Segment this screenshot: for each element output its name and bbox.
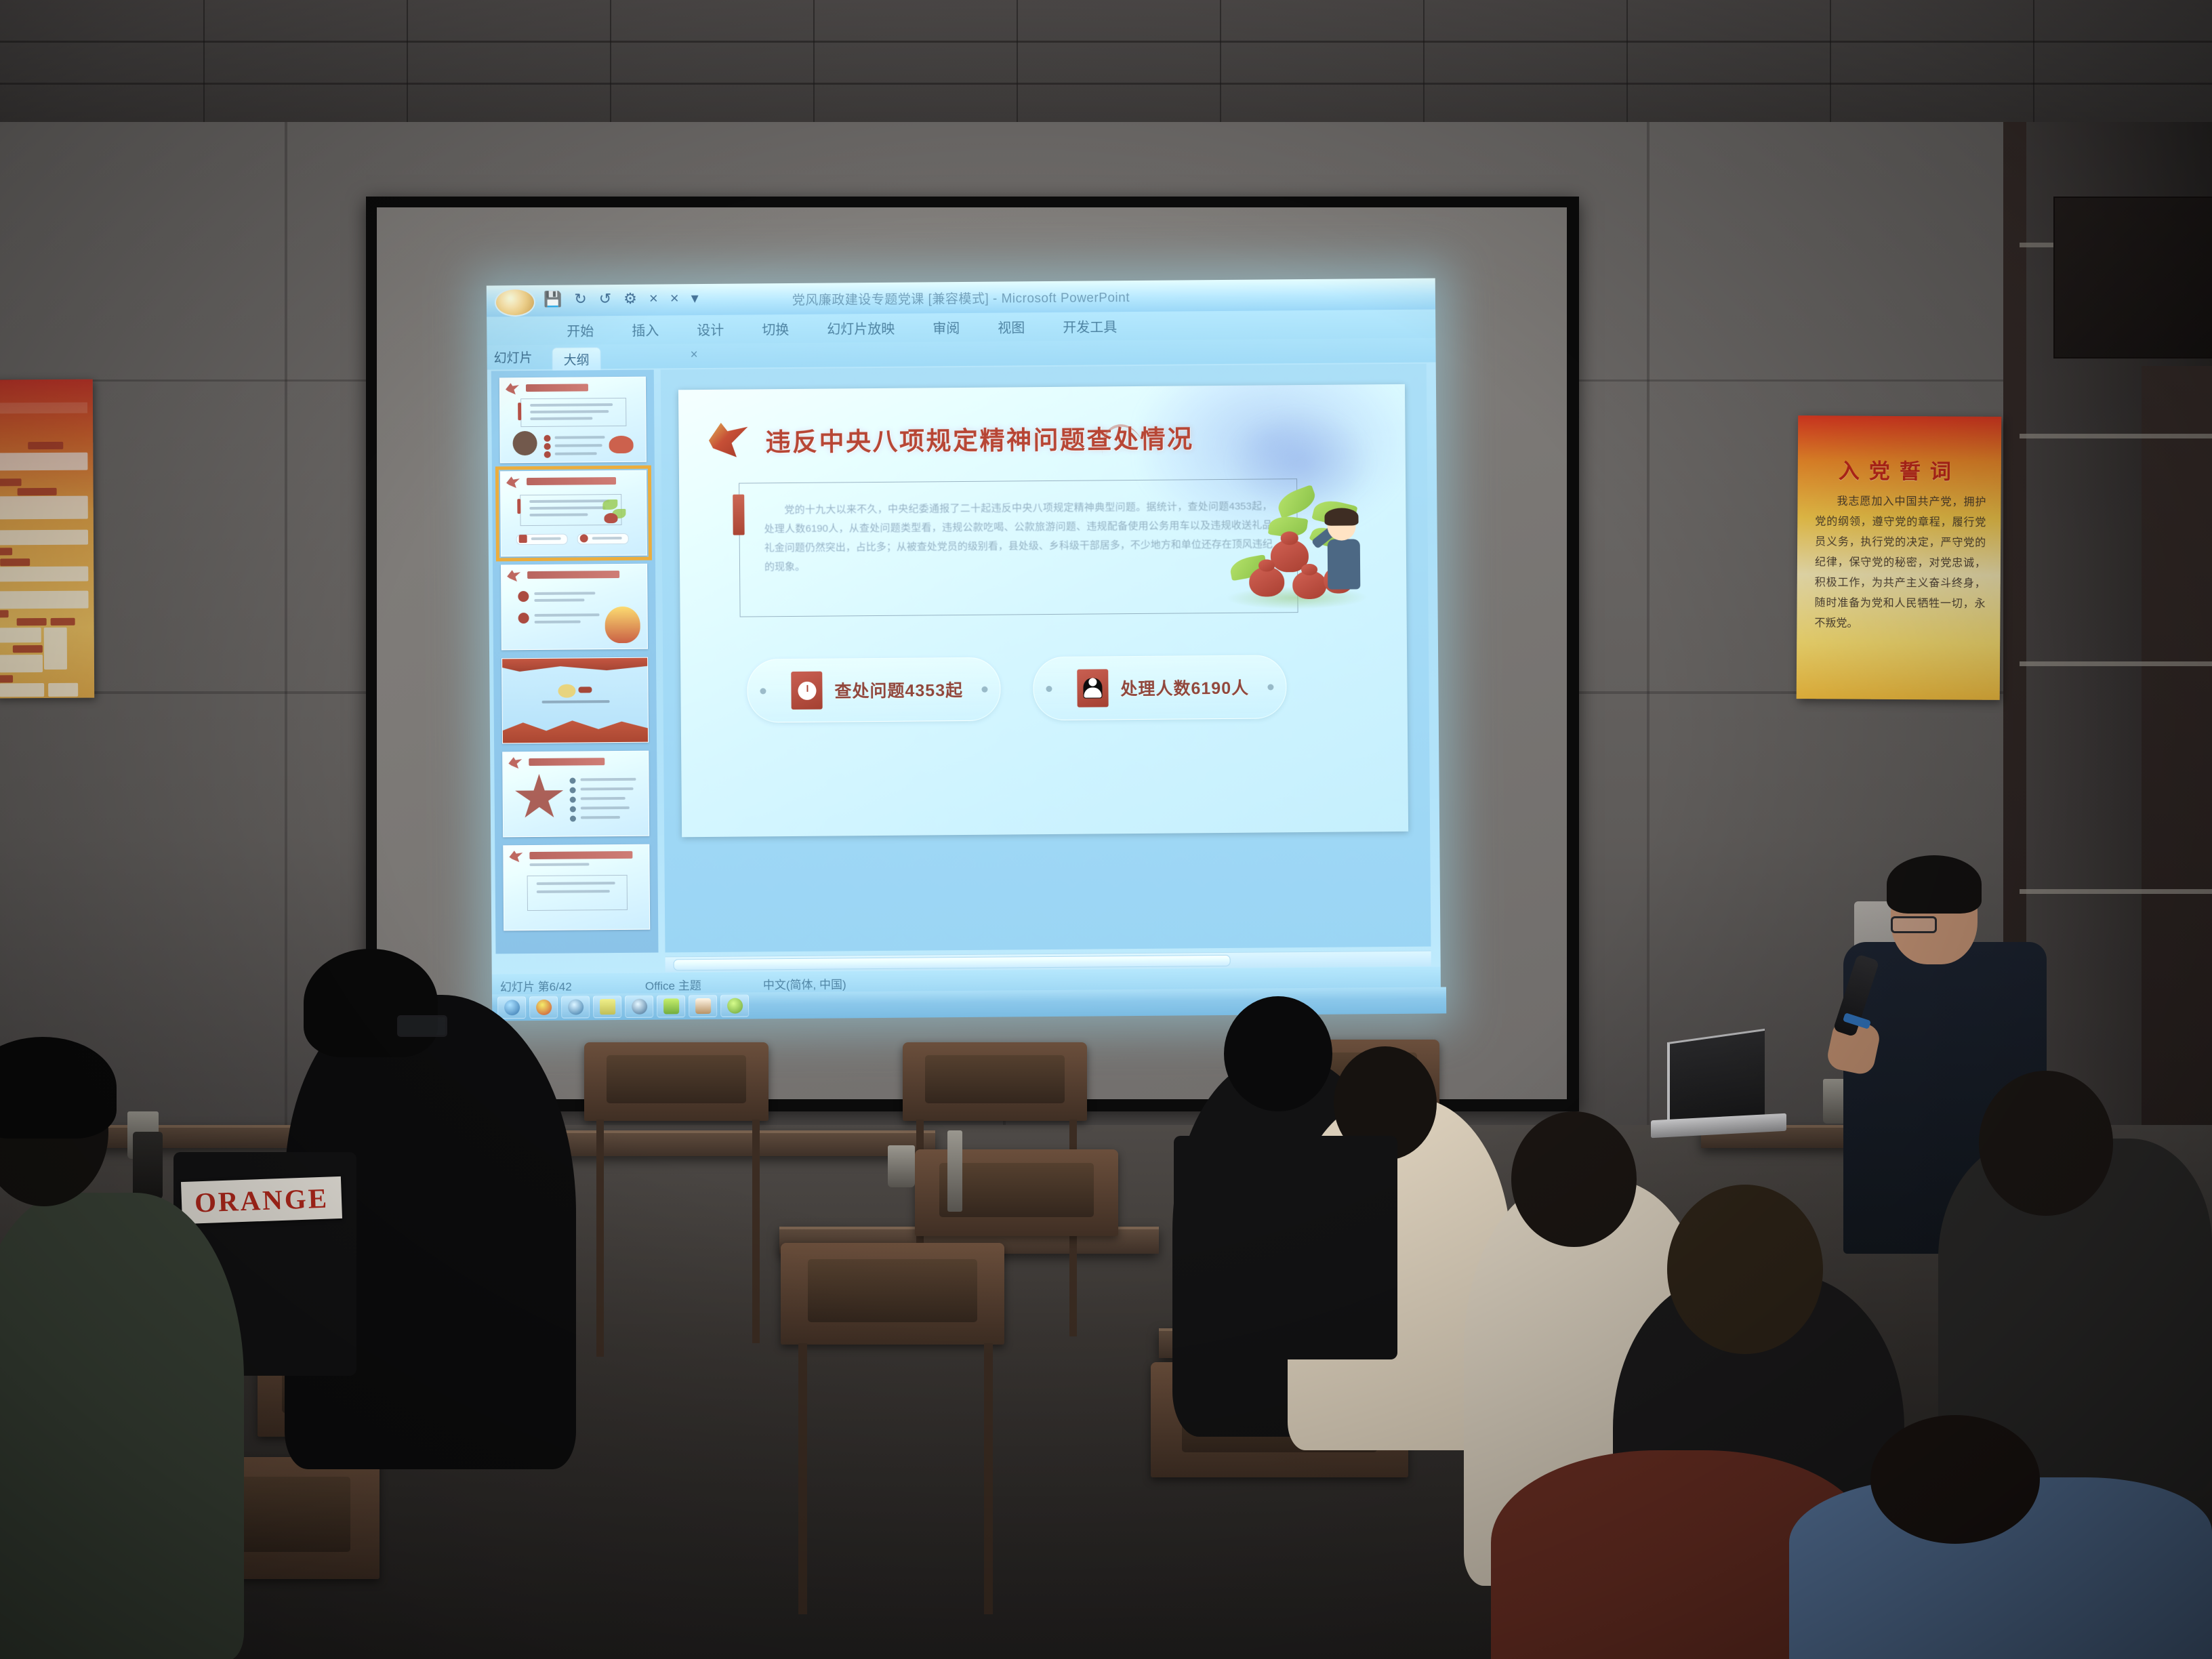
save-icon[interactable]: 💾: [544, 291, 562, 308]
audience-head-6: [1667, 1185, 1823, 1354]
status-theme: Office 主题: [645, 976, 701, 994]
body-accent-bar: [733, 495, 744, 535]
thumbnail-slide-3[interactable]: [501, 564, 648, 651]
tab-insert[interactable]: 插入: [632, 320, 659, 340]
close-x2-icon[interactable]: ×: [670, 289, 679, 307]
office-orb-icon[interactable]: [495, 288, 535, 316]
redo-icon[interactable]: ↺: [599, 290, 612, 308]
person-icon: [1077, 669, 1108, 707]
tab-slides[interactable]: 幻灯片: [493, 348, 532, 366]
chair-5: [781, 1243, 1004, 1345]
tab-view[interactable]: 视图: [998, 316, 1025, 336]
chair-2: [903, 1042, 1087, 1121]
thumbnail-slide-2[interactable]: [500, 470, 647, 557]
audience-hair-1: [304, 949, 438, 1057]
audience-glasses-1: [397, 1015, 447, 1037]
print-icon[interactable]: ⚙: [623, 290, 637, 308]
bag-label: ORANGE: [181, 1176, 342, 1224]
slide-thumbnail-pane[interactable]: [491, 370, 659, 954]
poster-title: 入党誓词: [1798, 453, 2001, 485]
undo-icon[interactable]: ↻: [574, 290, 587, 308]
tab-transitions[interactable]: 切换: [762, 319, 789, 338]
audience-head-7: [1979, 1071, 2113, 1216]
dark-backpack: [1174, 1136, 1397, 1359]
slide-body-text: 党的十九大以来不久，中央纪委通报了二十起违反中央八项规定精神典型问题。据统计，查…: [764, 497, 1273, 577]
media-icon[interactable]: [529, 996, 558, 1019]
tab-outline[interactable]: 大纲: [552, 347, 600, 371]
thumbnail-slide-6[interactable]: [503, 844, 650, 931]
scrollbar-thumb[interactable]: [674, 955, 1231, 970]
stat-label-issues: 查处问题4353起: [834, 677, 963, 702]
start-orb-icon[interactable]: [497, 996, 526, 1019]
bottle-on-desk: [133, 1132, 163, 1200]
close-x-icon[interactable]: ×: [649, 290, 658, 308]
audience-head-3: [1224, 996, 1332, 1111]
ceiling: [0, 0, 2212, 125]
stat-label-people: 处理人数6190人: [1120, 675, 1249, 700]
close-pane-icon[interactable]: ×: [690, 348, 697, 363]
tab-home[interactable]: 开始: [567, 320, 594, 340]
audience-head-9: [1870, 1415, 2040, 1544]
cpc-emblem-icon: [701, 413, 752, 463]
tab-slideshow[interactable]: 幻灯片放映: [827, 318, 895, 338]
clock-icon: [791, 672, 822, 710]
slide-editing-stage[interactable]: 违反中央八项规定精神问题查处情况 党的十九大以来不久，中央纪委通报了二十起违反中…: [661, 364, 1431, 953]
kingsoft-icon[interactable]: [625, 996, 653, 1018]
status-slide-counter: 幻灯片 第6/42: [500, 977, 572, 995]
chevron-down-icon[interactable]: ▾: [691, 289, 699, 307]
party-oath-poster: 入党誓词 我志愿加入中国共产党，拥护党的纲领，遵守党的章程，履行党员义务，执行党…: [1797, 415, 2002, 700]
audience-person-left: [0, 1193, 244, 1659]
tab-review[interactable]: 审阅: [933, 317, 960, 337]
tab-developer[interactable]: 开发工具: [1063, 316, 1117, 336]
quick-access-toolbar[interactable]: 💾 ↻ ↺ ⚙ × × ▾: [544, 289, 699, 308]
browser-icon[interactable]: [561, 996, 590, 1018]
folder-icon[interactable]: [593, 996, 621, 1018]
slide-body-textbox[interactable]: 党的十九大以来不久，中央纪委通报了二十起违反中央八项规定精神典型问题。据统计，查…: [739, 478, 1298, 617]
round-green-icon[interactable]: [720, 995, 749, 1017]
stat-card-issues[interactable]: 查处问题4353起: [747, 657, 1001, 723]
chair-4: [915, 1149, 1118, 1236]
poster-body: 我志愿加入中国共产党，拥护党的纲领，遵守党的章程，履行党员义务，执行党的决定，严…: [1814, 491, 1986, 635]
regulations-poster: [0, 380, 94, 699]
wall-speaker: [2053, 197, 2212, 359]
powerpoint-window[interactable]: 💾 ↻ ↺ ⚙ × × ▾ 党风廉政建设专题党课 [兼容模式] - Micros…: [487, 279, 1441, 1021]
status-language: 中文(简体, 中国): [763, 975, 846, 992]
window-title: 党风廉政建设专题党课 [兼容模式] - Microsoft PowerPoint: [792, 287, 1130, 308]
thumbnail-slide-5[interactable]: [502, 751, 649, 838]
current-slide[interactable]: 违反中央八项规定精神问题查处情况 党的十九大以来不久，中央纪委通报了二十起违反中…: [678, 384, 1408, 837]
conference-room-scene: 入党誓词 我志愿加入中国共产党，拥护党的纲领，遵守党的章程，履行党员义务，执行党…: [0, 0, 2212, 1659]
cup-2: [888, 1145, 915, 1187]
cartoon-illustration: [1218, 486, 1375, 613]
mic-stand: [947, 1130, 962, 1212]
presenter-glasses: [1891, 916, 1937, 933]
thumbnail-slide-4[interactable]: [501, 657, 649, 744]
green-app-icon[interactable]: [657, 995, 685, 1017]
thumbnail-slide-1[interactable]: [499, 377, 647, 464]
audience-head-5: [1511, 1111, 1637, 1247]
presenter-hair: [1887, 855, 1982, 914]
wall-panel-strip-2: [2142, 366, 2212, 1139]
tab-design[interactable]: 设计: [697, 319, 724, 339]
chair-1: [584, 1042, 769, 1121]
camera-icon[interactable]: [689, 995, 717, 1017]
stat-card-people[interactable]: 处理人数6190人: [1033, 655, 1287, 720]
